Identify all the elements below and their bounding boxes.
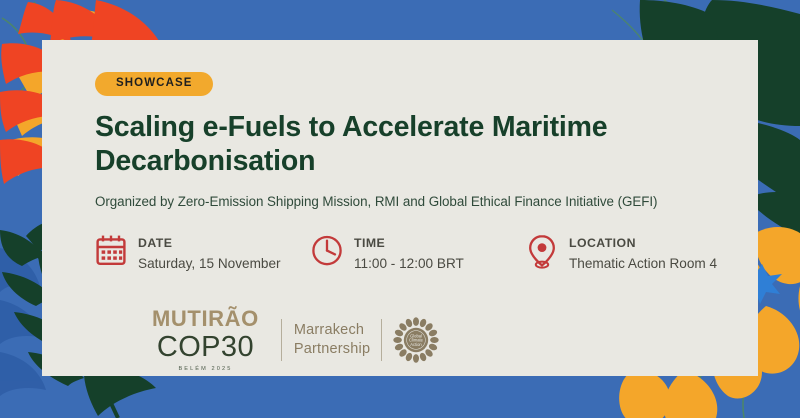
- meta-label-location: LOCATION: [569, 236, 636, 250]
- marrakech-partnership-logo: Marrakech Partnership: [294, 321, 370, 360]
- meta-item-time: TIME 11:00 - 12:00 BRT: [311, 233, 526, 274]
- meta-label-date: DATE: [138, 236, 172, 250]
- logo-divider-2: [381, 319, 382, 361]
- logo-row: MUTIRÃO COP30 BELÉM 2025 Marrakech Partn…: [152, 308, 439, 373]
- cop30-wordmark: COP30: [152, 333, 259, 362]
- meta-value-time: 11:00 - 12:00 BRT: [354, 254, 464, 274]
- meta-value-date: Saturday, 15 November: [138, 254, 281, 274]
- meta-label-time: TIME: [354, 236, 385, 250]
- organizers-text: Organized by Zero-Emission Shipping Miss…: [95, 193, 734, 211]
- page-title: Scaling e-Fuels to Accelerate Maritime D…: [95, 110, 695, 180]
- gca-line-3: Action: [411, 342, 423, 347]
- global-climate-action-emblem: Global Climate Action: [393, 317, 439, 363]
- mutirao-wordmark: MUTIRÃO: [152, 308, 259, 330]
- cop30-logo: MUTIRÃO COP30 BELÉM 2025: [152, 308, 259, 373]
- meta-item-date: DATE Saturday, 15 November: [95, 233, 311, 274]
- poster-canvas: SHOWCASE Scaling e-Fuels to Accelerate M…: [0, 0, 800, 418]
- event-meta-row: DATE Saturday, 15 November: [95, 233, 734, 274]
- location-pin-icon: [526, 234, 558, 268]
- belem-2025-text: BELÉM 2025: [152, 367, 259, 373]
- meta-item-location: LOCATION Thematic Action Room 4: [526, 233, 734, 274]
- event-card: SHOWCASE Scaling e-Fuels to Accelerate M…: [42, 40, 758, 376]
- calendar-icon: [95, 234, 127, 268]
- logo-divider-1: [281, 319, 282, 361]
- marrakech-line-2: Partnership: [294, 340, 370, 360]
- meta-value-location: Thematic Action Room 4: [569, 254, 717, 274]
- clock-icon: [311, 234, 343, 268]
- marrakech-line-1: Marrakech: [294, 321, 370, 341]
- status-badge: SHOWCASE: [95, 72, 213, 96]
